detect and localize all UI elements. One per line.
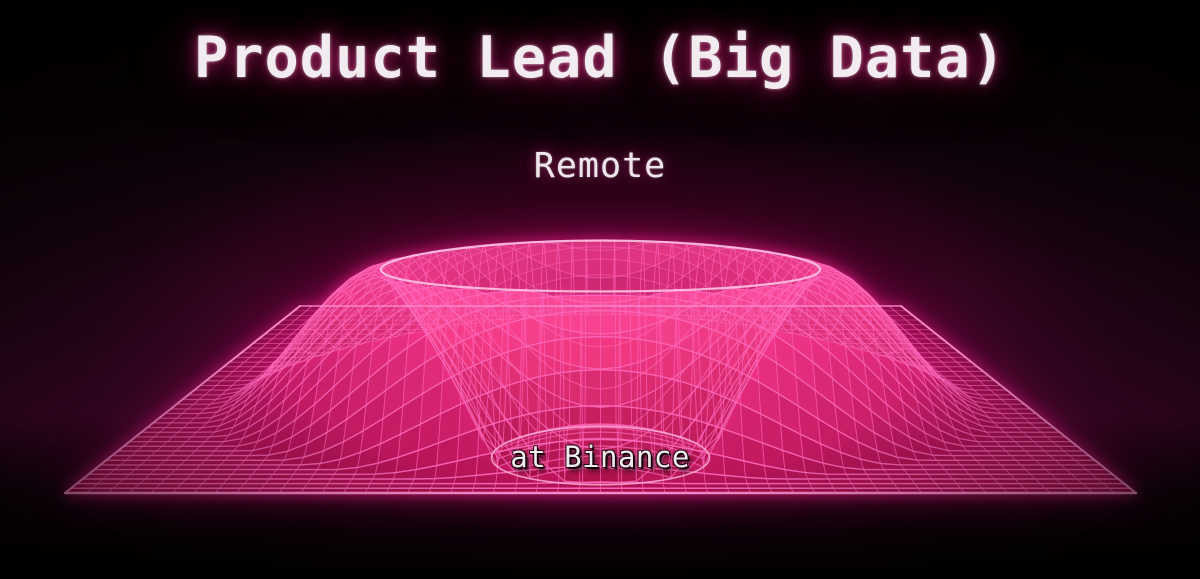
- job-location: Remote: [0, 146, 1200, 186]
- page-title: Product Lead (Big Data): [0, 25, 1200, 91]
- job-card: Product Lead (Big Data) Remote at Binanc…: [0, 0, 1200, 579]
- company-name-line: at Binance: [0, 440, 1200, 474]
